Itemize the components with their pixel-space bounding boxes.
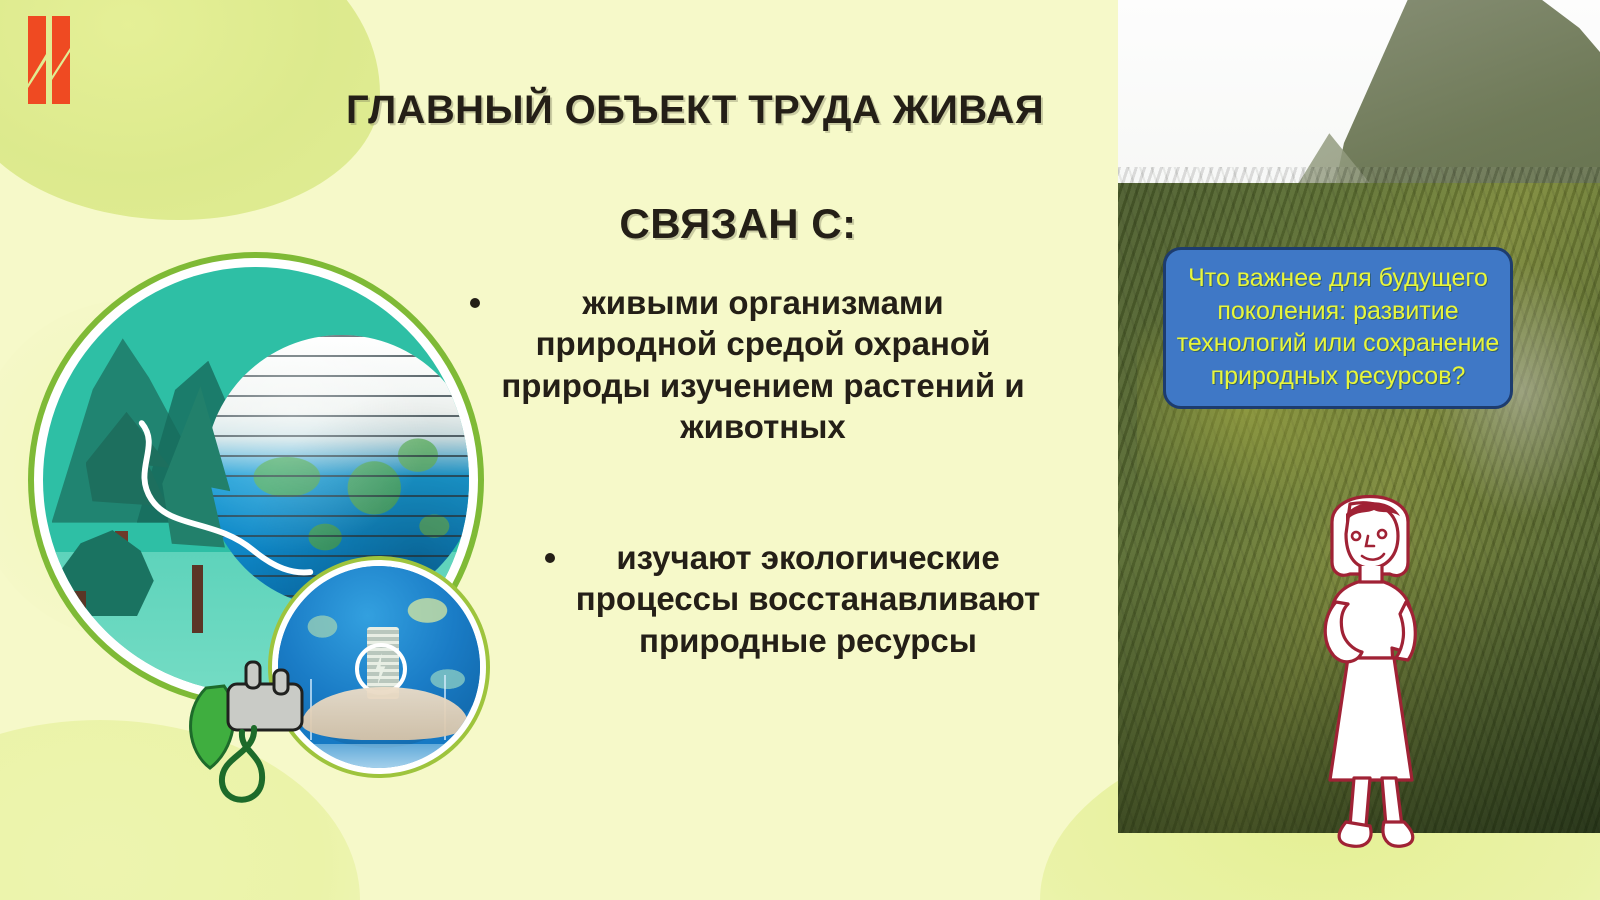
bullet-text: изучают экологические процессы восстанав…: [571, 537, 1045, 661]
bullet-text: живыми организмами природной средой охра…: [496, 282, 1030, 447]
woman-illustration: [1270, 470, 1470, 855]
bush-trunk: [69, 591, 86, 642]
bullet-list-primary: живыми организмами природной средой охра…: [470, 282, 1030, 447]
brand-logo-icon: [26, 14, 82, 106]
page-subtitle: СВЯЗАН С:: [558, 200, 918, 248]
page-title: ГЛАВНЫЙ ОБЪЕКТ ТРУДА ЖИВАЯ: [300, 88, 1090, 132]
speech-bubble: Что важнее для будущего поколения: разви…: [1163, 247, 1513, 409]
bullet-dot-icon: [470, 298, 480, 308]
list-item: живыми организмами природной средой охра…: [470, 282, 1030, 447]
list-item: изучают экологические процессы восстанав…: [545, 537, 1045, 661]
bullet-list-secondary: изучают экологические процессы восстанав…: [545, 537, 1045, 661]
leaf-plug-icon: [176, 628, 346, 818]
bullet-dot-icon: [545, 553, 555, 563]
